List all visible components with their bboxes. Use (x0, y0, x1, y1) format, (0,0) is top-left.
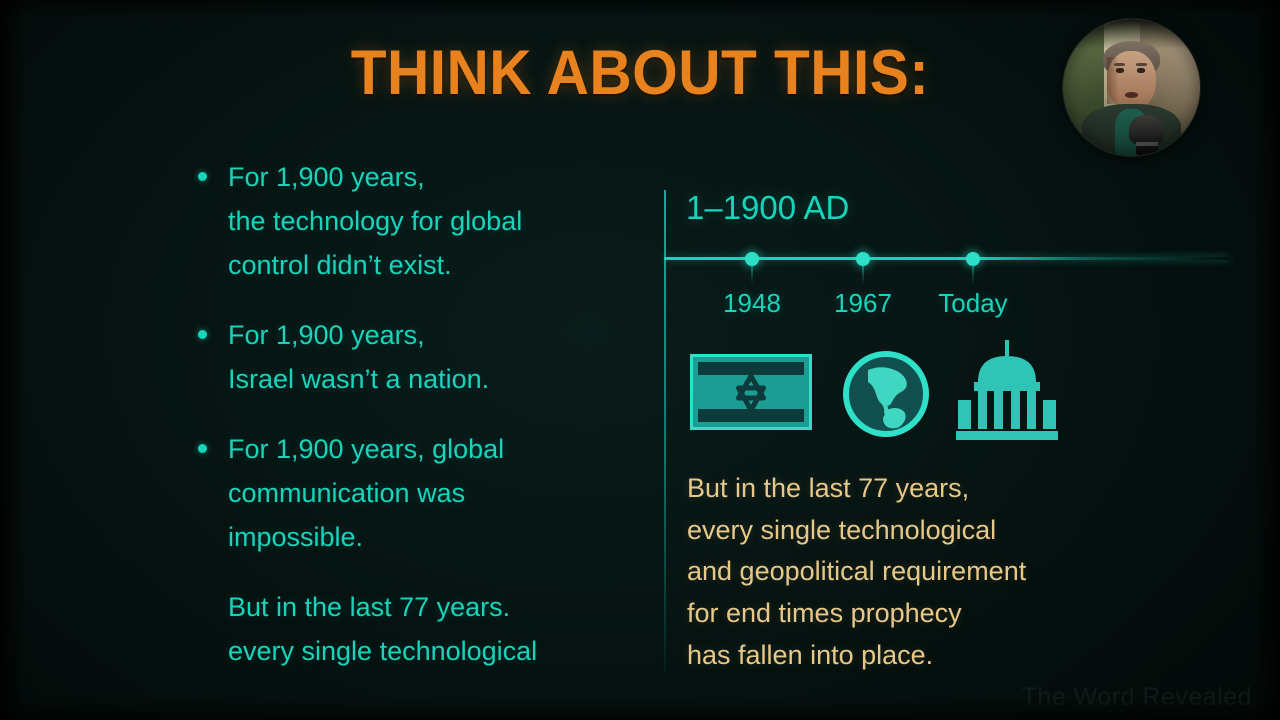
capitol-building-icon (952, 338, 1062, 451)
bullet-line: For 1,900 years, (228, 155, 642, 199)
presentation-slide: THINK ABOUT THIS: For 1,900 years, the t… (0, 0, 1280, 720)
timeline-tick (751, 264, 753, 284)
milestone-icon-row (690, 338, 1090, 450)
globe-icon (840, 348, 932, 445)
bullet-line: Israel wasn’t a nation. (228, 357, 642, 401)
bullet-dot-icon (198, 172, 207, 181)
paragraph-line: has fallen into place. (687, 635, 1157, 677)
timeline-tick (972, 264, 974, 284)
right-paragraph: But in the last 77 years, every single t… (687, 468, 1157, 677)
bullet-line: impossible. (228, 515, 642, 559)
timeline-label-today: Today (938, 290, 1007, 316)
bullet-dot-icon (198, 330, 207, 339)
era-label: 1–1900 AD (686, 191, 849, 224)
closing-line: every single technological (228, 629, 642, 673)
israel-flag-icon (690, 354, 812, 435)
paragraph-line: for end times prophecy (687, 593, 1157, 635)
bullet-line: the technology for global (228, 199, 642, 243)
timeline-label-1948: 1948 (723, 290, 781, 316)
page-title: THINK ABOUT THIS: (45, 42, 1235, 105)
left-closing-paragraph: But in the last 77 years. every single t… (190, 585, 642, 673)
bullet-line: communication was (228, 471, 642, 515)
list-item: For 1,900 years, global communication wa… (190, 427, 642, 559)
left-bullet-column: For 1,900 years, the technology for glob… (190, 155, 642, 673)
paragraph-line: every single technological (687, 510, 1157, 552)
watermark: The Word Revealed (1022, 683, 1252, 712)
paragraph-line: But in the last 77 years, (687, 468, 1157, 510)
bullet-dot-icon (198, 444, 207, 453)
bullet-line: control didn’t exist. (228, 243, 642, 287)
paragraph-line: and geopolitical requirement (687, 551, 1157, 593)
bullet-line: For 1,900 years, (228, 313, 642, 357)
timeline-label-1967: 1967 (834, 290, 892, 316)
list-item: For 1,900 years, the technology for glob… (190, 155, 642, 287)
speaker-video-overlay[interactable] (1063, 19, 1200, 156)
timeline: 1948 1967 Today (664, 252, 1230, 266)
bullet-line: For 1,900 years, global (228, 427, 642, 471)
webcam-inner-shadow (1063, 19, 1200, 156)
timeline-tick (862, 264, 864, 284)
list-item: For 1,900 years, Israel wasn’t a nation. (190, 313, 642, 401)
closing-line: But in the last 77 years. (228, 585, 642, 629)
